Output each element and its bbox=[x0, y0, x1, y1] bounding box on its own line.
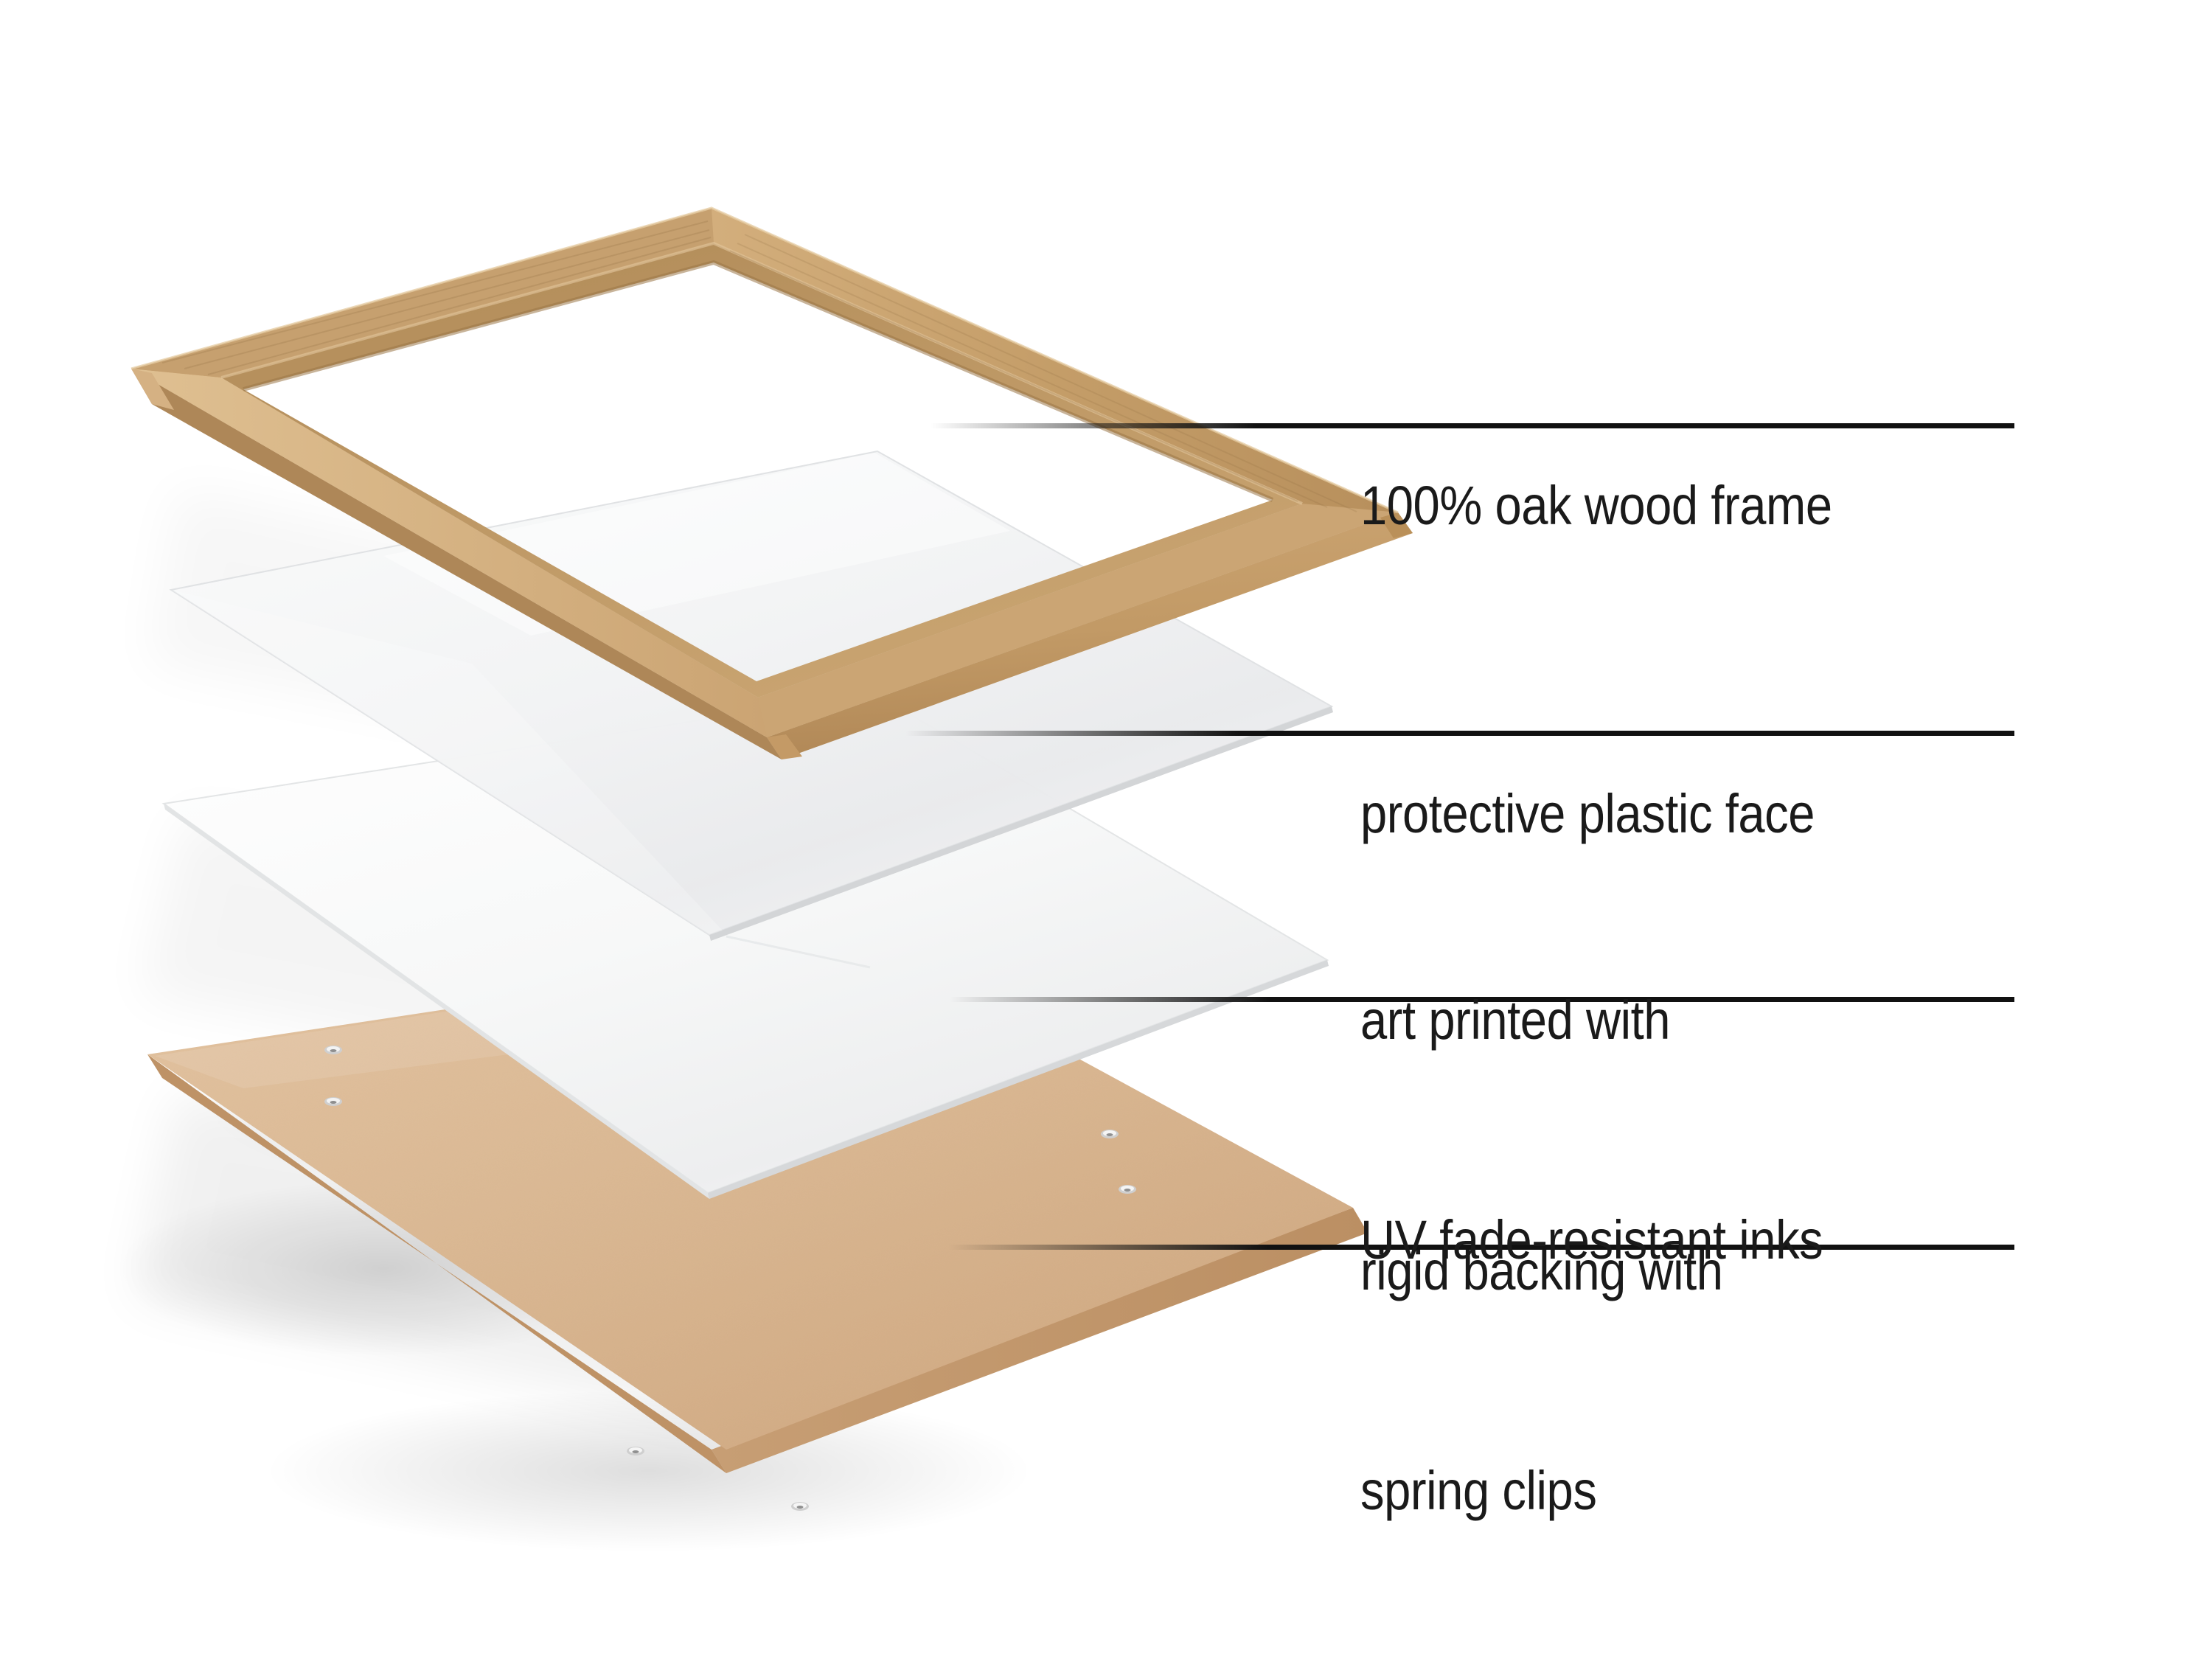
rivet bbox=[1119, 1185, 1136, 1194]
label-line: rigid backing with bbox=[1360, 1234, 1723, 1307]
rivet bbox=[627, 1447, 644, 1455]
rivet bbox=[324, 1046, 342, 1054]
rivet bbox=[324, 1097, 342, 1106]
label-rigid-backing: rigid backing with spring clips bbox=[1360, 1088, 1723, 1673]
label-line: spring clips bbox=[1360, 1454, 1723, 1527]
rivet bbox=[791, 1502, 809, 1511]
rivet bbox=[1101, 1130, 1119, 1138]
label-line: 100% oak wood frame bbox=[1360, 469, 1832, 542]
diagram-canvas: 100% oak wood frame protective plastic f… bbox=[0, 0, 2212, 1580]
exploded-frame-illustration bbox=[0, 0, 2212, 1580]
label-line: art printed with bbox=[1360, 984, 1823, 1057]
